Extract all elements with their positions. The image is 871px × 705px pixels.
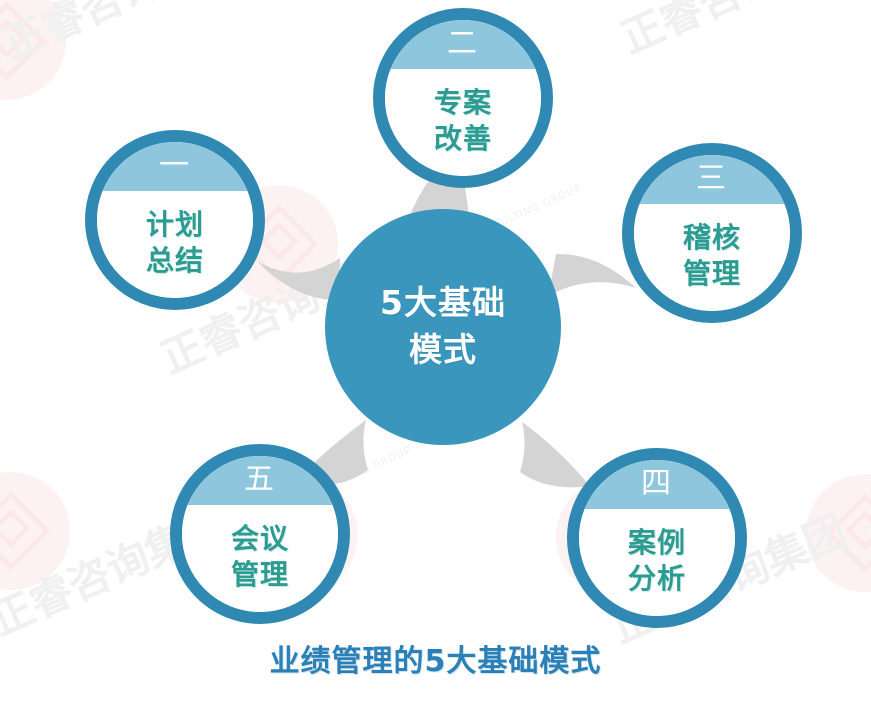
center-node-line-1: 5大基础 — [380, 280, 506, 327]
node-label-group: 案例 分析 — [579, 509, 735, 616]
node-label-line-2: 管理 — [683, 256, 741, 292]
node-numeral: 四 — [641, 469, 673, 499]
node-meeting-management[interactable]: 五 会议 管理 — [170, 444, 350, 624]
node-label-line-1: 案例 — [628, 525, 686, 561]
node-label-line-2: 分析 — [628, 561, 686, 597]
node-body: 三 稽核 管理 — [634, 155, 790, 311]
node-label-line-2: 管理 — [231, 557, 289, 593]
node-numeral-band: 三 — [634, 155, 790, 204]
node-label-line-2: 总结 — [146, 243, 204, 279]
diagram-caption: 业绩管理的5大基础模式 — [0, 636, 871, 680]
node-body: 五 会议 管理 — [182, 456, 338, 612]
node-case-analysis[interactable]: 四 案例 分析 — [567, 448, 747, 628]
diagram-canvas: 正睿咨询集团 ZHENGRUI CONSULTING GROUP 正睿咨询集团 … — [0, 0, 871, 705]
node-body: 二 专案 改善 — [385, 20, 541, 176]
node-label-group: 专案 改善 — [385, 69, 541, 176]
center-node[interactable]: 5大基础 模式 — [325, 209, 561, 445]
connector-to-audit-management — [548, 254, 636, 296]
node-label-line-2: 改善 — [434, 121, 492, 157]
node-numeral-band: 二 — [385, 20, 541, 69]
node-numeral: 三 — [696, 164, 728, 194]
connector-to-plan-summary — [258, 258, 340, 300]
node-numeral-band: 一 — [97, 142, 253, 191]
node-audit-management[interactable]: 三 稽核 管理 — [622, 143, 802, 323]
node-project-improvement[interactable]: 二 专案 改善 — [373, 8, 553, 188]
node-numeral-band: 五 — [182, 456, 338, 505]
node-numeral: 一 — [159, 151, 191, 181]
node-label-line-1: 专案 — [434, 85, 492, 121]
node-label-group: 计划 总结 — [97, 191, 253, 298]
node-body: 四 案例 分析 — [579, 460, 735, 616]
node-label-line-1: 计划 — [146, 207, 204, 243]
node-label-line-1: 稽核 — [683, 220, 741, 256]
node-body: 一 计划 总结 — [97, 142, 253, 298]
node-numeral: 五 — [244, 465, 276, 495]
node-numeral-band: 四 — [579, 460, 735, 509]
node-label-group: 会议 管理 — [182, 505, 338, 612]
node-numeral: 二 — [447, 29, 479, 59]
node-label-group: 稽核 管理 — [634, 204, 790, 311]
node-label-line-1: 会议 — [231, 521, 289, 557]
center-node-line-2: 模式 — [409, 327, 477, 374]
node-plan-summary[interactable]: 一 计划 总结 — [85, 130, 265, 310]
